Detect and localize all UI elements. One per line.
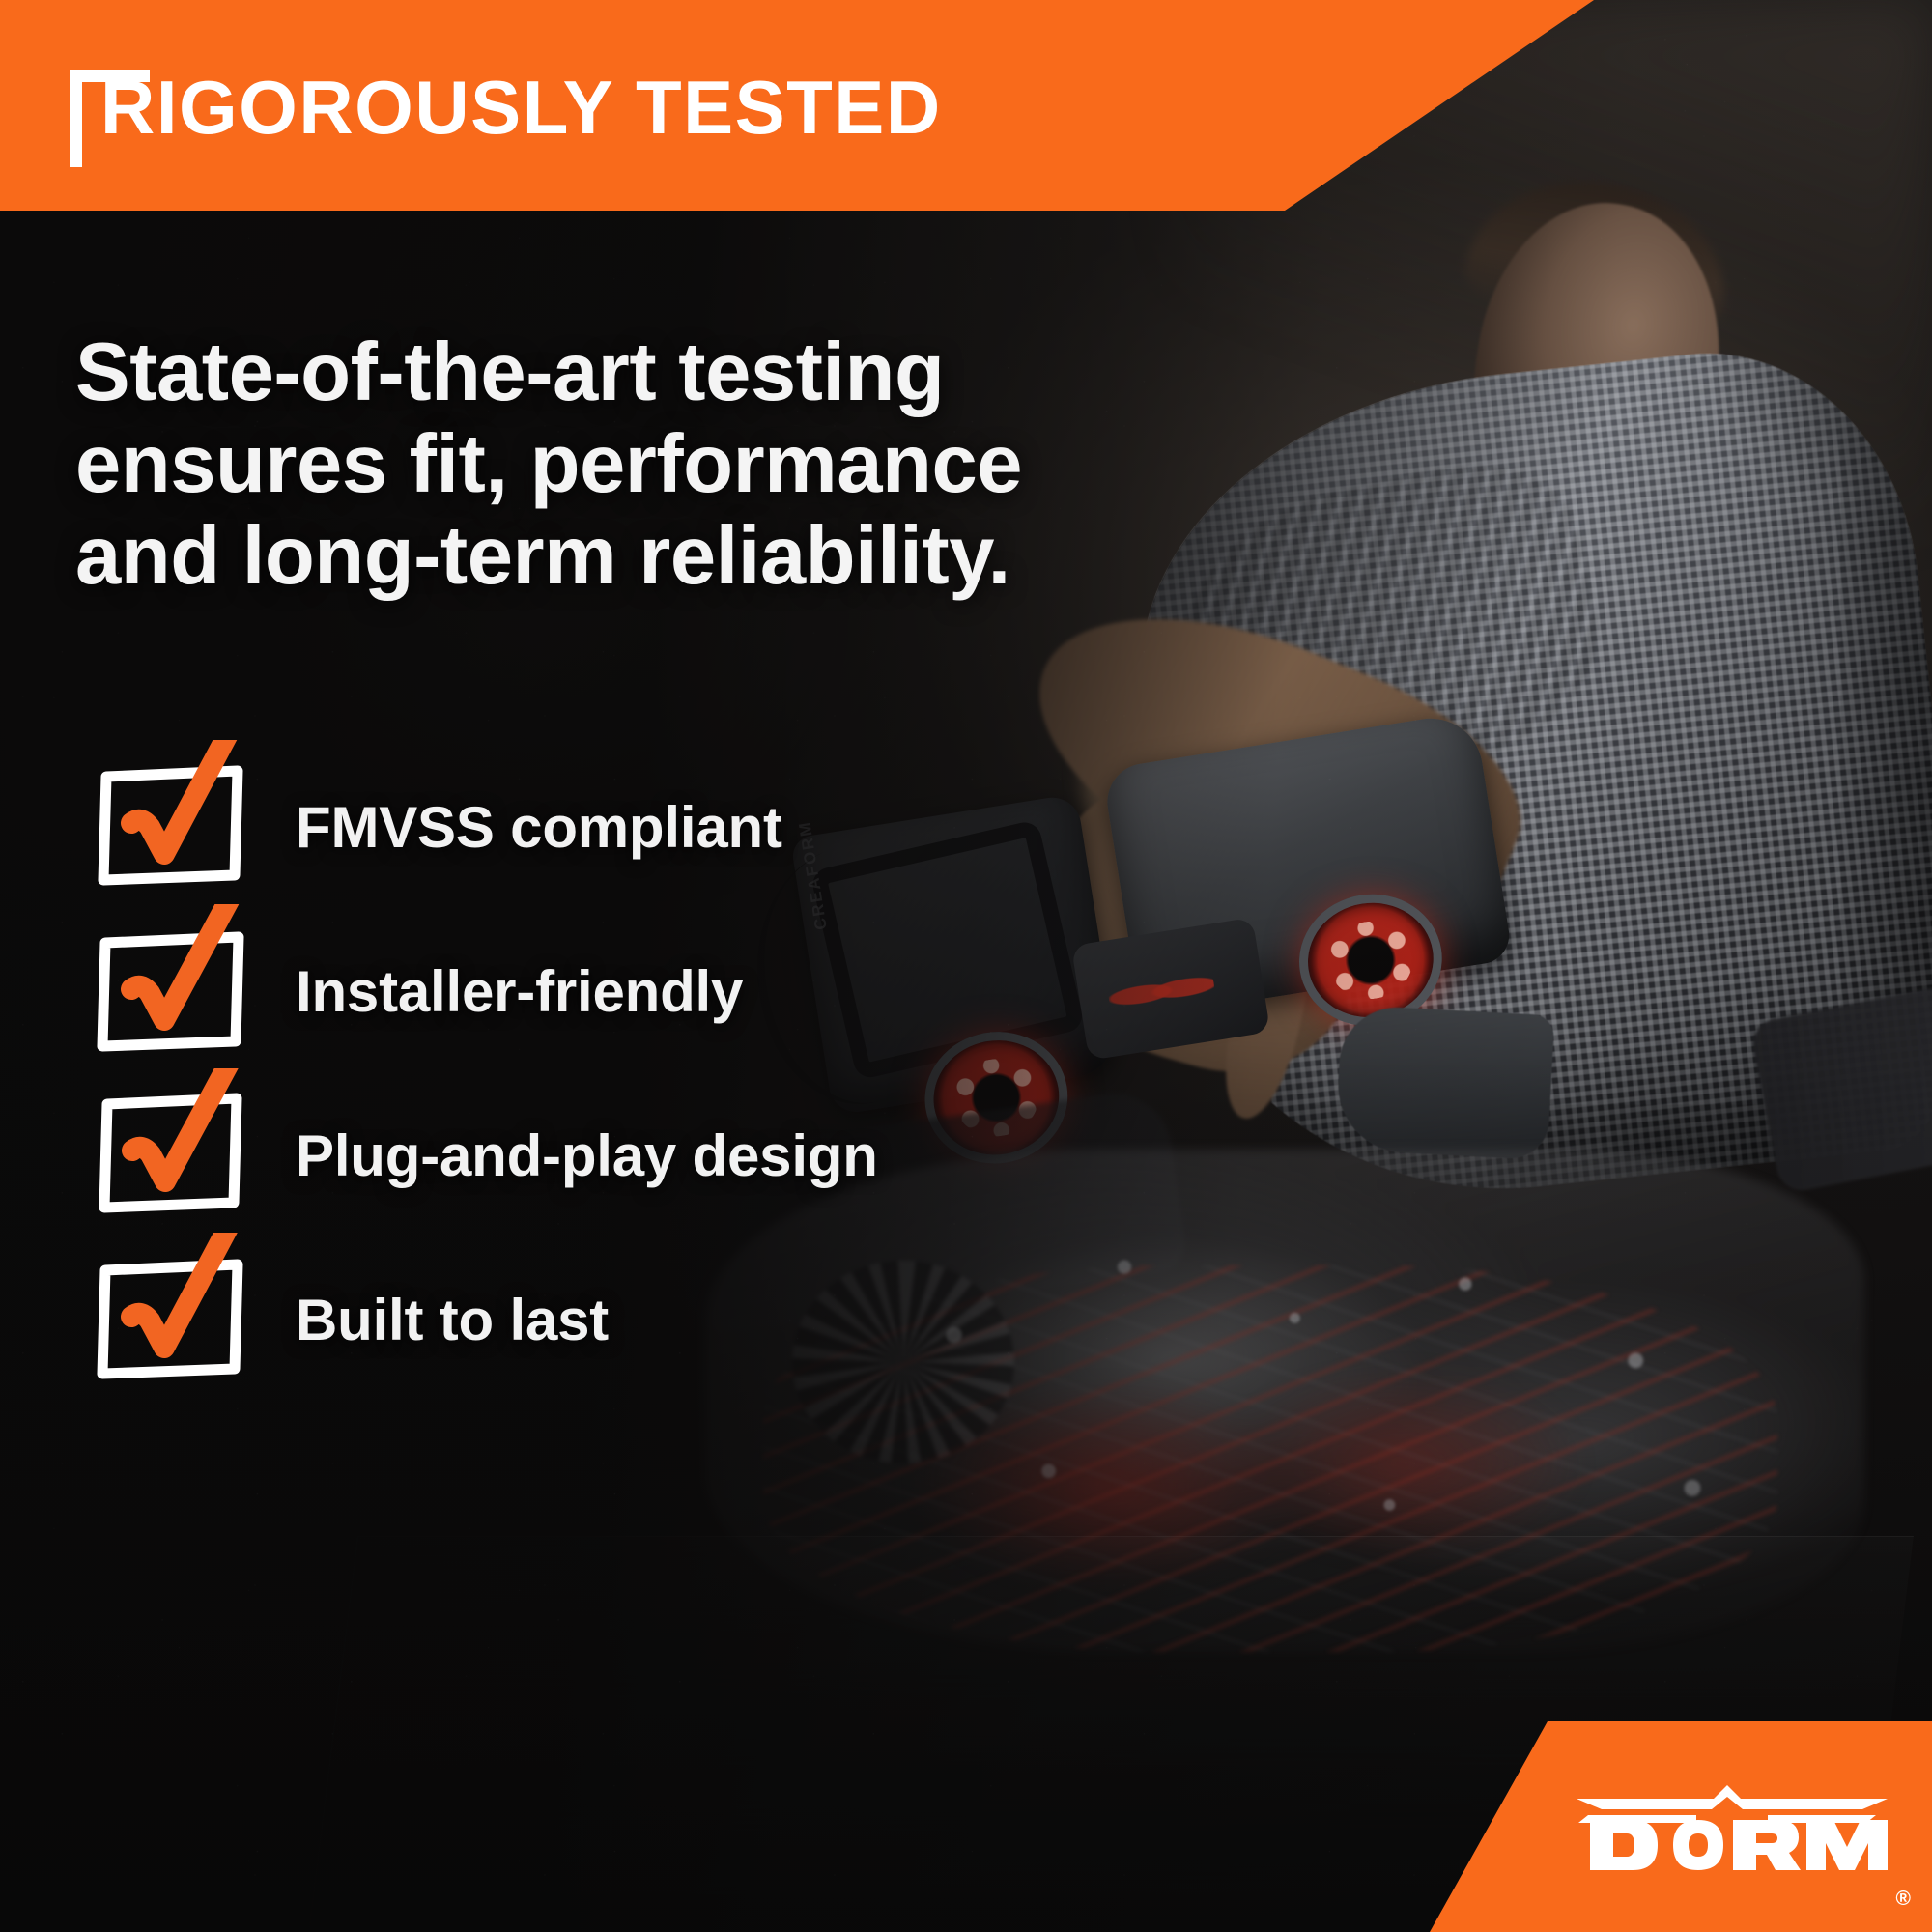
- page-title: RIGOROUSLY TESTED: [100, 70, 942, 145]
- list-item: Plug-and-play design: [93, 1090, 1155, 1254]
- list-item-label: Built to last: [296, 1287, 609, 1353]
- headline-line-2: ensures fit, performance: [75, 418, 1157, 510]
- list-item: Installer-friendly: [93, 925, 1155, 1090]
- checkbox-checked-icon: [93, 904, 257, 1088]
- headline: State-of-the-art testing ensures fit, pe…: [75, 327, 1157, 603]
- registered-trademark-icon: ®: [1896, 1888, 1911, 1911]
- checkbox-checked-icon: [93, 1068, 257, 1252]
- dorman-logo: [1573, 1777, 1891, 1878]
- headline-line-1: State-of-the-art testing: [75, 327, 1157, 418]
- marketing-graphic: CREAFORM RIGOROUSLY TESTED State-of-the-…: [0, 0, 1932, 1932]
- list-item-label: Installer-friendly: [296, 958, 743, 1025]
- feature-checklist: FMVSS compliant Installer-friendly Plug-…: [93, 761, 1155, 1418]
- headline-line-3: and long-term reliability.: [75, 510, 1157, 602]
- list-item-label: Plug-and-play design: [296, 1122, 878, 1189]
- list-item: FMVSS compliant: [93, 761, 1155, 925]
- checkbox-checked-icon: [93, 740, 257, 923]
- checkbox-checked-icon: [93, 1233, 257, 1416]
- list-item: Built to last: [93, 1254, 1155, 1418]
- list-item-label: FMVSS compliant: [296, 794, 782, 861]
